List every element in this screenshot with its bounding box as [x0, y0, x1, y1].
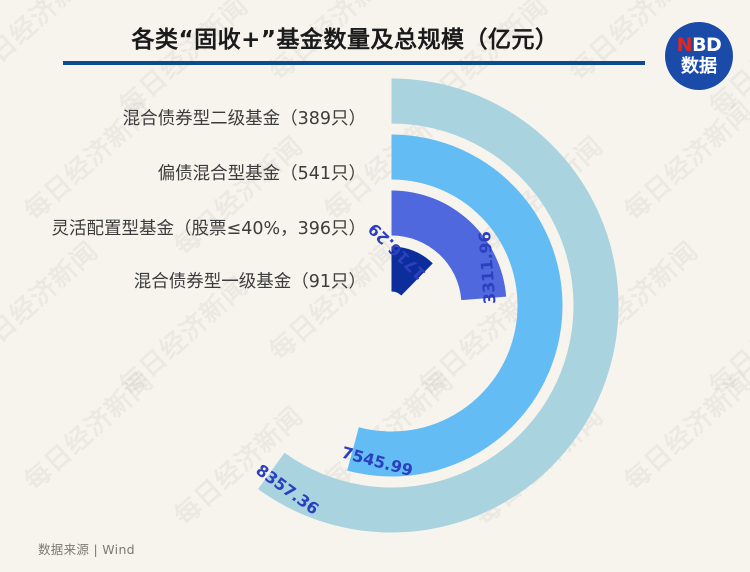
radial-bar-chart — [0, 0, 750, 572]
page-title: 各类“固收+”基金数量及总规模（亿元） — [0, 20, 690, 54]
category-label: 混合债券型一级基金（91只） — [134, 268, 366, 293]
logo-initial: N — [677, 34, 692, 56]
logo-rest: BD — [692, 34, 721, 56]
category-label: 灵活配置型基金（股票≤40%，396只） — [52, 215, 366, 240]
title-underline — [63, 61, 645, 65]
source-separator: | — [93, 542, 98, 557]
data-source: 数据来源 | Wind — [38, 539, 135, 558]
source-label: 数据来源 — [38, 542, 89, 557]
category-label: 偏债混合型基金（541只） — [158, 160, 366, 185]
logo-wordmark: NBD — [677, 36, 722, 55]
logo-subtitle: 数据 — [681, 58, 717, 77]
category-label: 混合债券型二级基金（389只） — [123, 105, 366, 130]
source-name: Wind — [102, 542, 135, 557]
nbd-logo: NBD 数据 — [665, 22, 733, 90]
